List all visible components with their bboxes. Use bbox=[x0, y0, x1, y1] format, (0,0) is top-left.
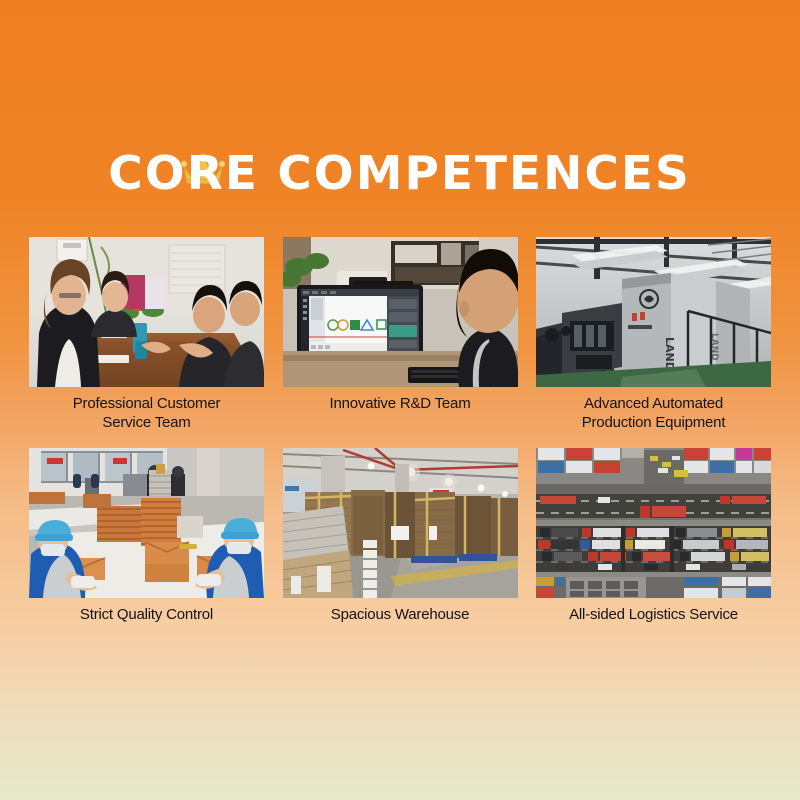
caption-line-1: Strict Quality Control bbox=[29, 606, 264, 625]
competence-caption: Advanced Automated Production Equipment bbox=[536, 395, 771, 433]
competence-caption: Professional Customer Service Team bbox=[29, 395, 264, 433]
quality-inspection-photo[interactable] bbox=[29, 448, 264, 598]
competences-row-2: Strict Quality Control bbox=[29, 448, 771, 625]
competence-caption: Spacious Warehouse bbox=[283, 606, 518, 625]
competences-grid: Professional Customer Service Team bbox=[29, 237, 771, 624]
competence-card-advanced-automated-production-equipment[interactable]: LAND 800 LAND 800 bbox=[536, 237, 771, 433]
competence-caption: Strict Quality Control bbox=[29, 606, 264, 625]
aerial-logistics-port-photo[interactable] bbox=[536, 448, 771, 598]
caption-line-2: Service Team bbox=[29, 414, 264, 433]
printing-press-factory-photo[interactable]: LAND 800 LAND 800 bbox=[536, 237, 771, 387]
competences-row-1: Professional Customer Service Team bbox=[29, 237, 771, 433]
caption-line-1: Innovative R&D Team bbox=[283, 395, 518, 414]
caption-line-1: Professional Customer bbox=[29, 395, 264, 414]
warehouse-pallets-photo[interactable] bbox=[283, 448, 518, 598]
caption-line-2: Production Equipment bbox=[536, 414, 771, 433]
competence-card-innovative-rd-team[interactable]: Innovative R&D Team bbox=[283, 237, 518, 433]
competence-caption: All-sided Logistics Service bbox=[536, 606, 771, 625]
title-block: CORE COMPETENCES bbox=[0, 150, 800, 196]
meeting-room-photo[interactable] bbox=[29, 237, 264, 387]
competence-card-strict-quality-control[interactable]: Strict Quality Control bbox=[29, 448, 264, 625]
competence-caption: Innovative R&D Team bbox=[283, 395, 518, 414]
core-competences-poster: CORE COMPETENCES bbox=[0, 0, 800, 800]
caption-line-1: All-sided Logistics Service bbox=[536, 606, 771, 625]
designer-at-monitor-photo[interactable] bbox=[283, 237, 518, 387]
competence-card-all-sided-logistics-service[interactable]: All-sided Logistics Service bbox=[536, 448, 771, 625]
caption-line-1: Advanced Automated bbox=[536, 395, 771, 414]
competence-card-professional-customer-service-team[interactable]: Professional Customer Service Team bbox=[29, 237, 264, 433]
page-title: CORE COMPETENCES bbox=[109, 150, 692, 196]
competence-card-spacious-warehouse[interactable]: Spacious Warehouse bbox=[283, 448, 518, 625]
caption-line-1: Spacious Warehouse bbox=[283, 606, 518, 625]
